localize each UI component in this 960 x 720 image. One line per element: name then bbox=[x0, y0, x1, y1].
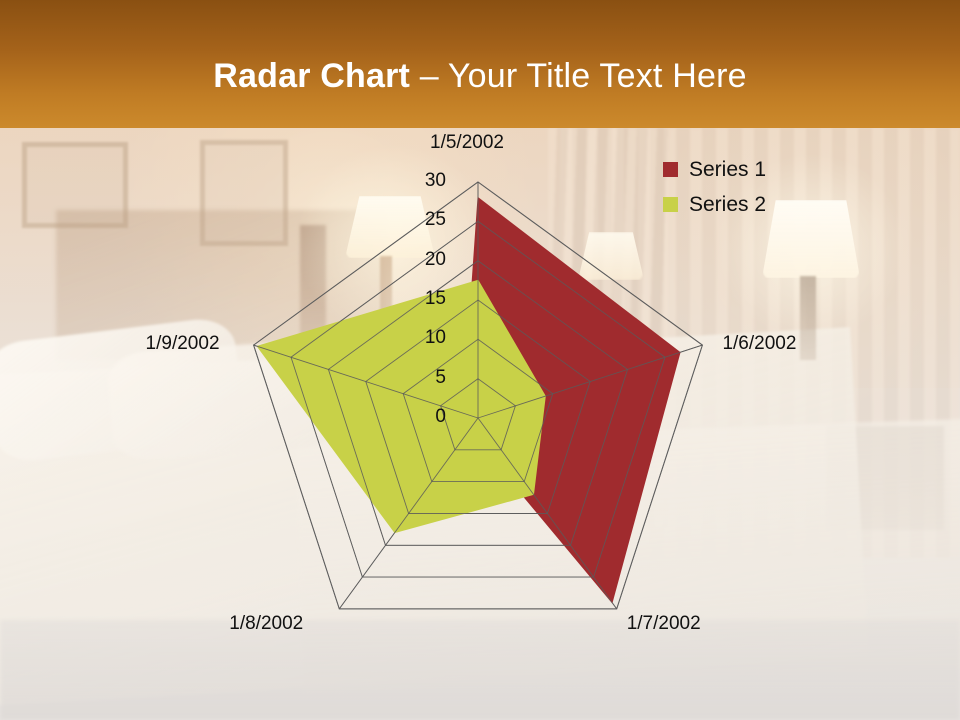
radar-category-label-1-5-2002: 1/5/2002 bbox=[430, 132, 504, 154]
radar-series-areas bbox=[257, 198, 680, 603]
legend-swatch-icon-1 bbox=[663, 162, 678, 177]
title-regular-part: – Your Title Text Here bbox=[410, 57, 747, 95]
radar-category-label-1-8-2002: 1/8/2002 bbox=[229, 613, 303, 635]
page-title: Radar Chart – Your Title Text Here bbox=[0, 56, 960, 96]
legend-label-2: Series 2 bbox=[689, 193, 766, 217]
chart-legend: Series 1Series 2 bbox=[663, 152, 766, 222]
legend-item-1[interactable]: Series 1 bbox=[663, 152, 766, 187]
radar-tick-label-5: 5 bbox=[388, 367, 446, 389]
slide: Radar Chart – Your Title Text Here 1/5/2… bbox=[0, 0, 960, 720]
radar-plot-svg bbox=[0, 128, 960, 720]
radar-category-label-1-7-2002: 1/7/2002 bbox=[627, 613, 701, 635]
radar-tick-label-20: 20 bbox=[388, 249, 446, 271]
radar-tick-label-0: 0 bbox=[388, 406, 446, 428]
legend-swatch-icon-2 bbox=[663, 197, 678, 212]
legend-item-2[interactable]: Series 2 bbox=[663, 187, 766, 222]
radar-category-label-1-9-2002: 1/9/2002 bbox=[146, 333, 220, 355]
radar-category-label-1-6-2002: 1/6/2002 bbox=[722, 333, 796, 355]
radar-tick-label-25: 25 bbox=[388, 209, 446, 231]
title-banner: Radar Chart – Your Title Text Here bbox=[0, 0, 960, 128]
legend-label-1: Series 1 bbox=[689, 158, 766, 182]
radar-tick-label-10: 10 bbox=[388, 327, 446, 349]
radar-chart: 1/5/20021/6/20021/7/20021/8/20021/9/2002… bbox=[0, 128, 960, 720]
radar-tick-label-30: 30 bbox=[388, 170, 446, 192]
title-bold-part: Radar Chart bbox=[213, 57, 410, 95]
radar-tick-label-15: 15 bbox=[388, 288, 446, 310]
